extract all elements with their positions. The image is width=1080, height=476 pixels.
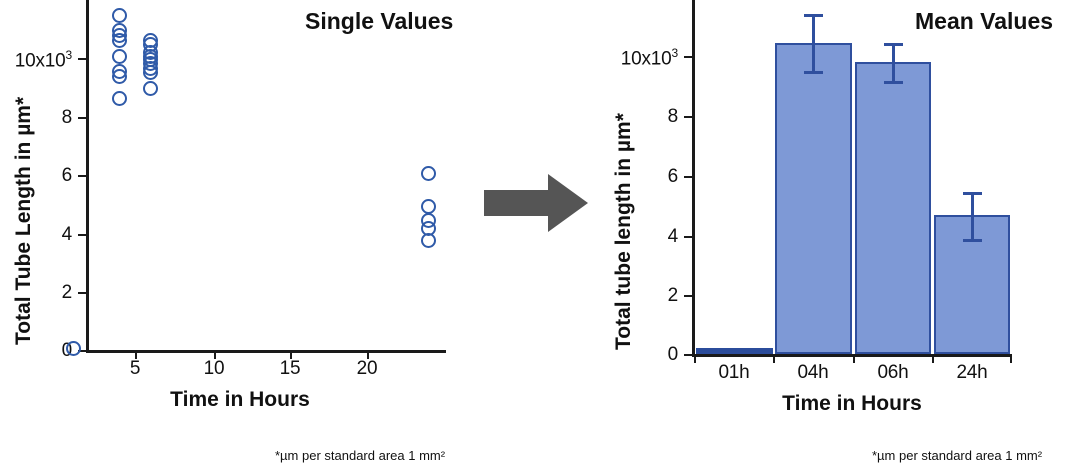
scatter-point: [112, 91, 127, 106]
left-x-axis-line: [86, 350, 446, 353]
right-y-ticklabel-0: 0: [634, 344, 678, 366]
left-y-tick-2: [78, 292, 87, 294]
scatter-point: [112, 8, 127, 23]
right-y-ticklabel-2: 2: [634, 285, 678, 307]
error-cap-04h-upper: [804, 14, 823, 17]
right-y-ticklabel-6: 6: [634, 166, 678, 188]
left-x-ticklabel-10: 10: [194, 358, 234, 380]
scatter-point: [421, 166, 436, 181]
left-x-ticklabel-15: 15: [270, 358, 310, 380]
left-y-ticklabel-10-text: 10x10: [15, 50, 66, 71]
left-y-tick-10: [78, 58, 87, 60]
left-y-ticklabel-10-exponent: 3: [66, 48, 72, 62]
right-x-ticklabel-04h: 04h: [773, 362, 853, 384]
left-y-tick-6: [78, 175, 87, 177]
left-x-axis-title: Time in Hours: [140, 388, 340, 412]
error-bar-24h: [971, 192, 974, 240]
right-x-axis-line: [692, 354, 1012, 357]
error-cap-06h-upper: [884, 43, 903, 46]
left-y-tick-4: [78, 234, 87, 236]
left-footnote: *µm per standard area 1 mm²: [275, 448, 445, 463]
right-y-ticklabel-10-text: 10x10: [621, 48, 672, 69]
left-y-tick-8: [78, 117, 87, 119]
error-cap-04h-lower: [804, 71, 823, 74]
scatter-point: [143, 65, 158, 80]
right-y-ticklabel-4: 4: [634, 226, 678, 248]
error-cap-24h-lower: [963, 239, 982, 242]
bar-01h[interactable]: [696, 348, 773, 354]
single-values-panel: Single Values Total Tube Length in µm* 0…: [0, 0, 480, 476]
right-y-ticklabel-10-exponent: 3: [672, 46, 678, 60]
left-y-ticklabel-10: 10x103: [2, 48, 72, 72]
right-y-tick-2: [684, 295, 693, 297]
error-cap-06h-lower: [884, 81, 903, 84]
right-arrow-icon: [482, 172, 590, 234]
right-x-axis-title: Time in Hours: [752, 392, 952, 416]
right-y-axis-line: [692, 0, 695, 356]
right-x-ticklabel-06h: 06h: [853, 362, 933, 384]
left-y-ticklabel-6: 6: [24, 165, 72, 187]
right-y-ticklabel-8: 8: [634, 106, 678, 128]
right-footnote: *µm per standard area 1 mm²: [872, 448, 1042, 463]
scatter-point: [112, 69, 127, 84]
bar-06h[interactable]: [855, 62, 931, 354]
right-y-tick-0: [684, 354, 693, 356]
error-cap-24h-upper: [963, 192, 982, 195]
left-y-ticklabel-0: 0: [24, 340, 72, 362]
left-y-ticklabel-8: 8: [24, 107, 72, 129]
left-x-ticklabel-5: 5: [115, 358, 155, 380]
right-y-tick-10: [684, 56, 693, 58]
left-y-ticklabel-4: 4: [24, 224, 72, 246]
scatter-point: [112, 49, 127, 64]
mean-values-panel: Mean Values Total tube length in µm* 0 2…: [600, 0, 1080, 476]
left-y-ticklabel-2: 2: [24, 282, 72, 304]
right-x-ticklabel-24h: 24h: [932, 362, 1012, 384]
right-x-ticklabel-01h: 01h: [694, 362, 774, 384]
right-y-ticklabel-10: 10x103: [608, 46, 678, 70]
right-y-tick-4: [684, 236, 693, 238]
right-y-tick-8: [684, 116, 693, 118]
error-bar-06h: [892, 43, 895, 82]
error-bar-04h: [812, 14, 815, 71]
scatter-point: [66, 341, 81, 356]
right-y-tick-6: [684, 176, 693, 178]
scatter-point: [112, 33, 127, 48]
left-x-ticklabel-20: 20: [347, 358, 387, 380]
scatter-point: [421, 233, 436, 248]
bar-04h[interactable]: [775, 43, 852, 354]
scatter-point: [143, 81, 158, 96]
